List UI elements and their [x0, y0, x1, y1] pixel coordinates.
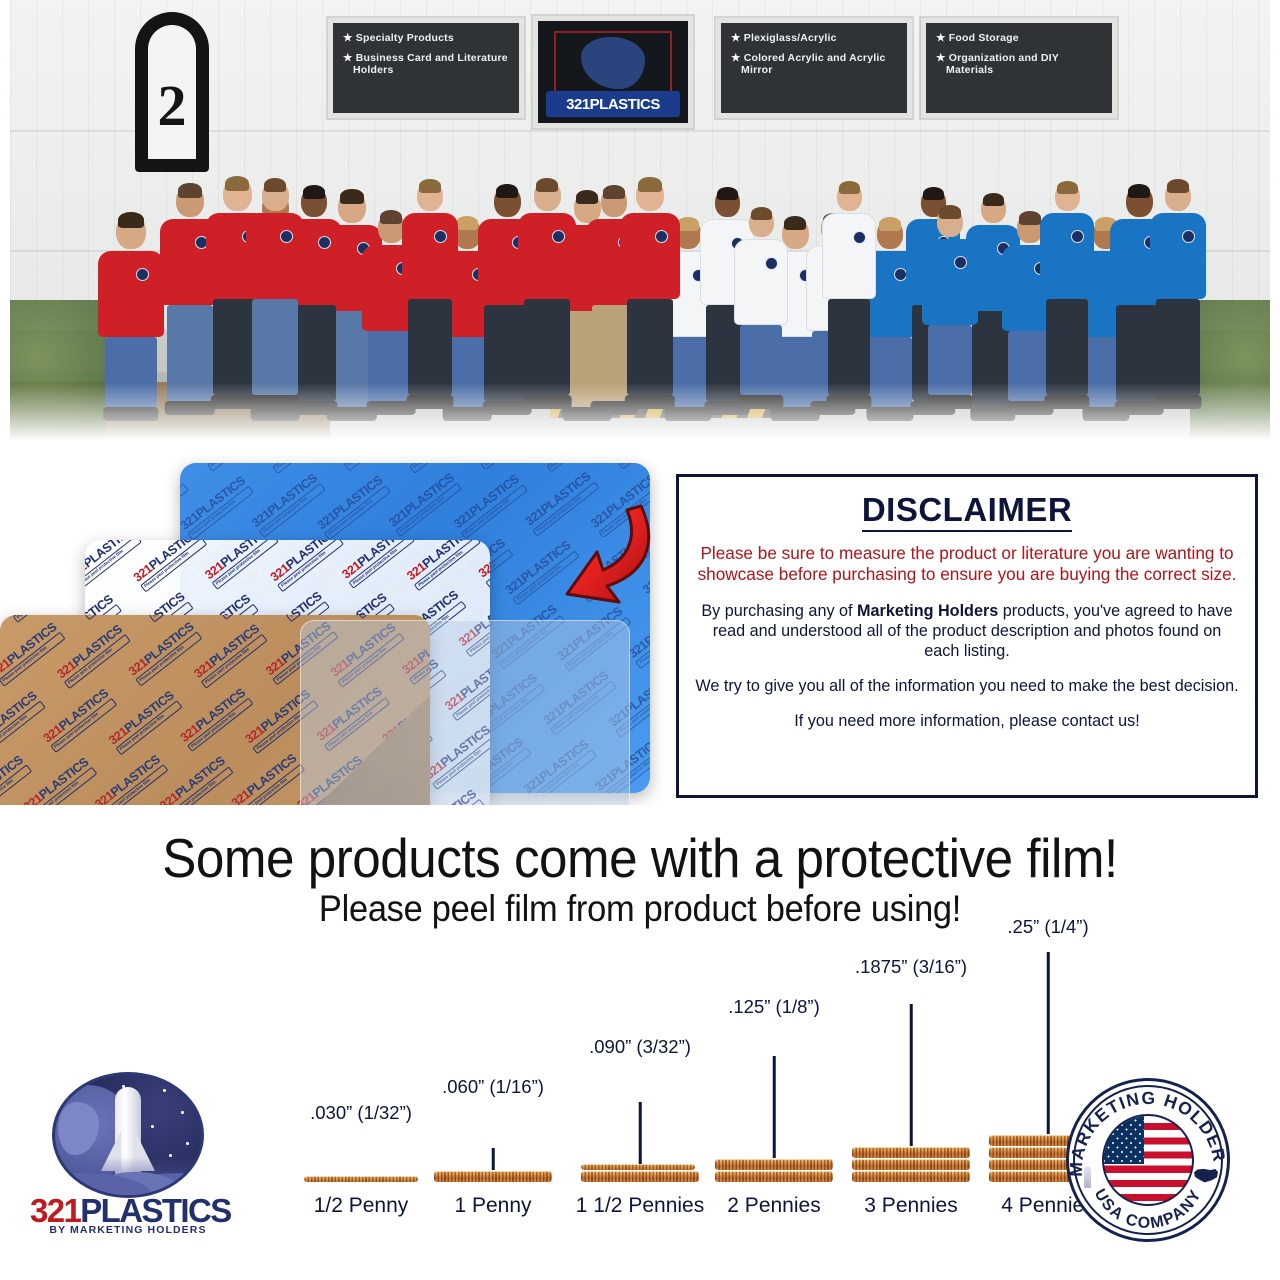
- shirt-logo-badge: [655, 230, 668, 243]
- shirt-logo-badge: [552, 230, 565, 243]
- employee-shoes: [1044, 395, 1089, 409]
- cloud-band: [55, 1157, 201, 1195]
- penny-coin: [852, 1171, 970, 1182]
- brand-name: Marketing Holders: [857, 602, 998, 620]
- employee-legs: [252, 299, 297, 395]
- shirt-logo-badge: [765, 257, 778, 270]
- penny-scale-item: .030” (1/32”)1/2 Penny: [296, 960, 426, 1220]
- penny-scale-item: .090” (3/32”)1 1/2 Pennies: [575, 960, 705, 1220]
- disclaimer-title: DISCLAIMER: [862, 491, 1072, 532]
- clear-film-overlay: [300, 620, 630, 805]
- seal-arc-text: MARKETING HOLDERS USA COMPANY: [1060, 1078, 1238, 1242]
- employee-shirt: [246, 213, 304, 299]
- shirt-logo-badge: [318, 236, 331, 249]
- penny-count-label: 3 Pennies: [864, 1194, 957, 1218]
- employee-shirt: [822, 213, 876, 299]
- employee-legs: [524, 299, 569, 395]
- employee-shoes: [103, 407, 158, 421]
- penny-coin: [581, 1164, 695, 1170]
- employee-hair: [340, 189, 364, 204]
- penny-leader-line: [910, 1004, 913, 1146]
- employee-group: [10, 0, 1270, 445]
- employee-hair: [939, 205, 961, 219]
- penny-leader-line: [1047, 952, 1050, 1134]
- penny-count-label: 1/2 Penny: [314, 1194, 409, 1218]
- penny-scale-item: .060” (1/16”)1 Penny: [428, 960, 558, 1220]
- employee-hair: [677, 217, 699, 231]
- employee-hair: [1057, 181, 1078, 194]
- employee-hair: [923, 187, 944, 200]
- employee-legs: [105, 337, 156, 407]
- employee-legs: [828, 299, 870, 395]
- employee: [1040, 182, 1094, 395]
- employee-hair: [638, 177, 662, 192]
- shirt-logo-badge: [1182, 230, 1195, 243]
- employee: [620, 179, 680, 395]
- red-arrow-icon: [545, 490, 675, 620]
- employee-hair: [1128, 184, 1151, 198]
- shirt-logo-badge: [1071, 230, 1084, 243]
- penny-measurement-label: .125” (1/8”): [728, 996, 820, 1018]
- employee-shirt: [734, 239, 788, 325]
- employee-shoes: [406, 395, 453, 409]
- employee: [98, 214, 164, 407]
- employee-legs: [740, 325, 782, 395]
- employee-hair: [264, 178, 287, 192]
- employee-legs: [1156, 299, 1200, 395]
- employee-shoes: [826, 395, 871, 409]
- employee-hair: [1019, 211, 1041, 225]
- disclaimer-agreement-text: By purchasing any of Marketing Holders p…: [695, 601, 1239, 661]
- penny-coin: [581, 1171, 699, 1182]
- employee-hair: [380, 210, 403, 224]
- employee: [1150, 181, 1206, 395]
- employee-hair: [879, 217, 901, 231]
- penny-coin: [304, 1176, 418, 1182]
- page-headline: Some products come with a protective fil…: [45, 826, 1235, 890]
- penny-count-label: 2 Pennies: [727, 1194, 820, 1218]
- employee-hair: [536, 178, 559, 192]
- penny-stack: [581, 1164, 699, 1182]
- penny-coin: [715, 1159, 833, 1170]
- employee: [402, 181, 458, 395]
- penny-coin: [434, 1171, 552, 1182]
- employee-shoes: [738, 395, 783, 409]
- shirt-logo-badge: [954, 256, 967, 269]
- penny-leader-line: [492, 1148, 495, 1170]
- employee-shirt: [620, 213, 680, 299]
- shirt-logo-badge: [136, 268, 149, 281]
- penny-measurement-label: .25” (1/4”): [1007, 916, 1088, 938]
- employee-hair: [1167, 179, 1189, 193]
- employee-hair: [178, 183, 202, 198]
- watermark-tag: 321PLASTICSPlease peel protective film: [608, 463, 650, 469]
- employee-hair: [496, 184, 519, 198]
- penny-coin: [852, 1159, 970, 1170]
- employee-hair: [303, 185, 325, 199]
- agreement-pre: By purchasing any of: [701, 602, 857, 620]
- employee-hair: [456, 216, 479, 230]
- employee-legs: [1046, 299, 1088, 395]
- disclaimer-info-text: We try to give you all of the informatio…: [695, 676, 1239, 696]
- employee-legs: [627, 299, 674, 395]
- employee: [734, 208, 788, 395]
- penny-coin: [715, 1171, 833, 1182]
- penny-stack: [852, 1147, 970, 1182]
- employee-hair: [839, 181, 860, 194]
- shirt-logo-badge: [853, 231, 866, 244]
- penny-count-label: 1 Penny: [454, 1194, 531, 1218]
- logo-tagline: BY MARKETING HOLDERS: [30, 1224, 226, 1236]
- disclaimer-warning-text: Please be sure to measure the product or…: [695, 543, 1239, 585]
- penny-measurement-label: .060” (1/16”): [442, 1076, 544, 1098]
- watermark-tag: 321PLASTICSPlease peel protective film: [476, 540, 490, 589]
- employee-shirt: [402, 213, 458, 299]
- employee-hair: [751, 207, 772, 220]
- penny-measurement-label: .1875” (3/16”): [855, 956, 967, 978]
- logo-marketing-holders-seal: MARKETING HOLDERS USA COMPANY: [1060, 1078, 1238, 1242]
- employee-hair: [118, 212, 143, 228]
- penny-measurement-label: .090” (3/32”): [589, 1036, 691, 1058]
- employee-shirt: [98, 251, 164, 337]
- penny-coin: [852, 1147, 970, 1158]
- penny-count-label: 1 1/2 Pennies: [576, 1194, 704, 1218]
- penny-leader-line: [639, 1102, 642, 1164]
- penny-stack: [715, 1159, 833, 1182]
- employee-shirt: [1150, 213, 1206, 299]
- employee-shirt: [922, 239, 978, 325]
- penny-stack: [434, 1171, 552, 1182]
- penny-scale-item: .125” (1/8”)2 Pennies: [709, 960, 839, 1220]
- employee-shoes: [165, 401, 215, 415]
- penny-scale-item: .1875” (3/16”)3 Pennies: [846, 960, 976, 1220]
- shirt-logo-badge: [280, 230, 293, 243]
- employee-shirt: [518, 213, 576, 299]
- employee-hair: [717, 187, 738, 200]
- disclaimer-box: DISCLAIMER Please be sure to measure the…: [676, 474, 1258, 798]
- employee-shoes: [866, 407, 913, 421]
- penny-leader-line: [773, 1056, 776, 1158]
- employee-hair: [419, 179, 441, 193]
- employee-legs: [928, 325, 972, 395]
- employee-shoes: [1154, 395, 1201, 409]
- employee-shoes: [625, 395, 675, 409]
- penny-stack: [304, 1176, 418, 1182]
- employee-shoes: [926, 395, 973, 409]
- employee-shirt: [1040, 213, 1094, 299]
- svg-text:MARKETING HOLDERS: MARKETING HOLDERS: [1060, 1078, 1230, 1177]
- logo-321-plastics: 321PLASTICS BY MARKETING HOLDERS: [30, 1072, 226, 1240]
- employee-shoes: [251, 395, 300, 409]
- shirt-logo-badge: [434, 230, 447, 243]
- penny-measurement-label: .030” (1/32”): [310, 1102, 412, 1124]
- employee: [822, 182, 876, 395]
- employee: [246, 180, 304, 395]
- employee-shoes: [523, 395, 572, 409]
- rocket-globe-emblem: [52, 1072, 204, 1198]
- employee: [922, 207, 978, 395]
- disclaimer-contact-text: If you need more information, please con…: [695, 711, 1239, 731]
- employee-hair: [983, 193, 1004, 206]
- employee-legs: [408, 299, 452, 395]
- team-photo-banner: 2 ★ Specialty Products ★ Business Card a…: [0, 0, 1280, 455]
- employee: [518, 180, 576, 395]
- svg-text:USA COMPANY: USA COMPANY: [1091, 1186, 1206, 1232]
